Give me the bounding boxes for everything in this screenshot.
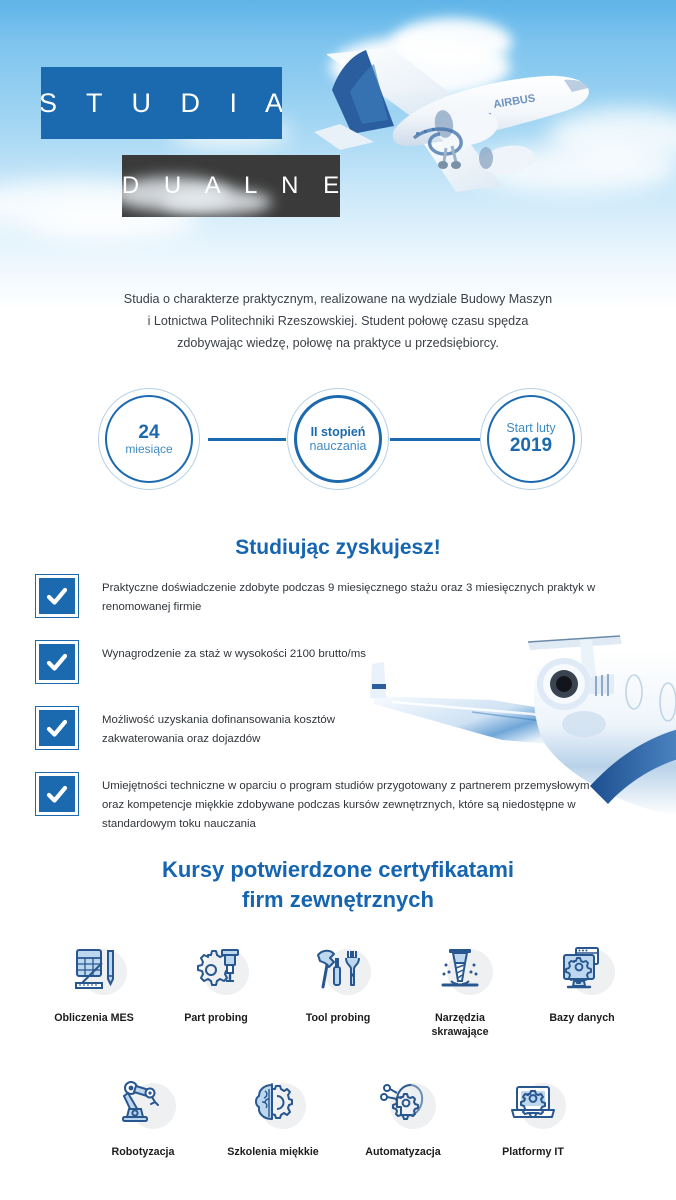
connector-line-right	[390, 438, 480, 441]
course-label: Part probing	[166, 1011, 266, 1025]
benefit-text: Praktyczne doświadczenie zdobyte podczas…	[102, 575, 607, 617]
drill-bit-cutting-icon	[410, 935, 510, 1003]
benefit-text: Możliwość uzyskania dofinansowania koszt…	[102, 707, 402, 749]
courses-heading: Kursy potwierdzone certyfikatami firm ze…	[0, 855, 676, 915]
course-item-narzedzia-skrawajace[interactable]: Narzędzia skrawające	[410, 935, 510, 1039]
fact-circle-start: Start luty 2019	[480, 388, 582, 490]
monitor-gear-database-icon	[532, 935, 632, 1003]
fact-value: 24	[138, 422, 159, 443]
check-icon	[36, 641, 78, 683]
benefit-text: Wynagrodzenie za staż w wysokości 2100 b…	[102, 641, 366, 664]
laptop-gear-icon	[483, 1069, 583, 1137]
fact-unit: nauczania	[310, 439, 367, 453]
course-item-obliczenia-mes[interactable]: Obliczenia MES	[44, 935, 144, 1039]
intro-line-2: i Lotnictwa Politechniki Rzeszowskiej. S…	[60, 310, 616, 332]
course-label: Bazy danych	[532, 1011, 632, 1025]
course-label: Tool probing	[288, 1011, 388, 1025]
robot-arm-icon	[93, 1069, 193, 1137]
course-item-tool-probing[interactable]: Tool probing	[288, 935, 388, 1039]
intro-line-1: Studia o charakterze praktycznym, realiz…	[60, 288, 616, 310]
course-item-part-probing[interactable]: Part probing	[166, 935, 266, 1039]
course-item-bazy-danych[interactable]: Bazy danych	[532, 935, 632, 1039]
check-icon	[36, 773, 78, 815]
key-facts-circles: 24 miesiące II stopień nauczania Start l…	[0, 388, 676, 493]
benefit-item: Możliwość uzyskania dofinansowania koszt…	[36, 707, 636, 749]
course-label: Robotyzacja	[93, 1145, 193, 1159]
check-icon	[36, 575, 78, 617]
benefit-item: Umiejętności techniczne w oparciu o prog…	[36, 773, 636, 834]
title-box-dualne: D U A L N E	[122, 155, 340, 217]
intro-line-3: zdobywając wiedzę, połowę na praktyce u …	[60, 332, 616, 354]
courses-heading-line-2: firm zewnętrznych	[0, 885, 676, 915]
fact-label: Start luty	[506, 421, 555, 435]
brain-gear-icon	[223, 1069, 323, 1137]
fact-circle-duration: 24 miesiące	[98, 388, 200, 490]
calculator-ruler-pencil-icon	[44, 935, 144, 1003]
course-label: Platformy IT	[483, 1145, 583, 1159]
gear-drill-probe-icon	[166, 935, 266, 1003]
page-title: S T U D I A	[41, 88, 282, 119]
course-item-automatyzacja[interactable]: Automatyzacja	[353, 1069, 453, 1159]
benefits-list: Praktyczne doświadczenie zdobyte podczas…	[36, 575, 636, 858]
courses-icon-grid: Obliczenia MES Part probing	[0, 935, 676, 1159]
head-gear-circuit-icon	[353, 1069, 453, 1137]
benefit-text: Umiejętności techniczne w oparciu o prog…	[102, 773, 607, 834]
hammer-tools-icon	[288, 935, 388, 1003]
hero-banner: AIRBUS S T U D I A D U A L N E	[0, 0, 676, 310]
courses-row-2: Robotyzacja Szkolenia miękkie	[0, 1069, 676, 1159]
course-item-platformy-it[interactable]: Platformy IT	[483, 1069, 583, 1159]
course-label: Narzędzia skrawające	[410, 1011, 510, 1039]
connector-line-left	[208, 438, 286, 441]
fact-value: 2019	[510, 435, 552, 456]
title-box-studia: S T U D I A	[41, 67, 282, 139]
fact-circle-level: II stopień nauczania	[287, 388, 389, 490]
check-icon	[36, 707, 78, 749]
course-item-szkolenia-miekkie[interactable]: Szkolenia miękkie	[223, 1069, 323, 1159]
course-label: Szkolenia miękkie	[223, 1145, 323, 1159]
benefit-item: Praktyczne doświadczenie zdobyte podczas…	[36, 575, 636, 617]
airbus-a320neo-image: AIRBUS	[296, 34, 626, 199]
courses-row-1: Obliczenia MES Part probing	[0, 935, 676, 1039]
course-item-robotyzacja[interactable]: Robotyzacja	[93, 1069, 193, 1159]
course-label: Automatyzacja	[353, 1145, 453, 1159]
intro-paragraph: Studia o charakterze praktycznym, realiz…	[60, 288, 616, 354]
benefit-item: Wynagrodzenie za staż w wysokości 2100 b…	[36, 641, 636, 683]
course-label: Obliczenia MES	[44, 1011, 144, 1025]
fact-value: II stopień	[311, 425, 366, 439]
benefits-heading: Studiując zyskujesz!	[0, 536, 676, 560]
page-subtitle: D U A L N E	[122, 172, 340, 200]
fact-unit: miesiące	[125, 443, 172, 456]
courses-heading-line-1: Kursy potwierdzone certyfikatami	[0, 855, 676, 885]
